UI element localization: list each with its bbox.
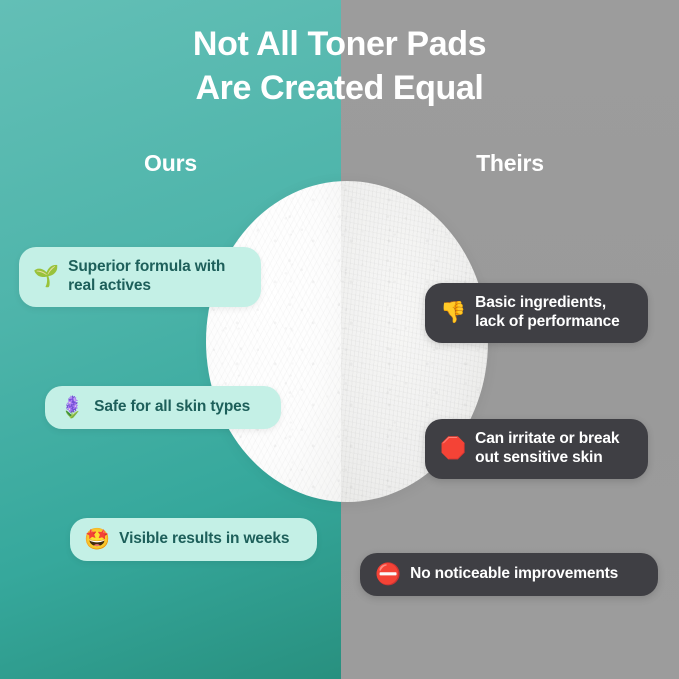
no-entry-icon: ⛔ (375, 564, 401, 585)
drawback-pill-1: 👎 Basic ingredients, lack of performance (425, 283, 648, 343)
drawback-pill-2: 🛑 Can irritate or break out sensitive sk… (425, 419, 648, 479)
page-title-line-1: Not All Toner Pads (0, 22, 679, 66)
page-title-line-2: Are Created Equal (0, 66, 679, 110)
comparison-infographic: Not All Toner Pads Are Created Equal Our… (0, 0, 679, 679)
thumbs-down-icon: 👎 (440, 302, 466, 323)
drawback-pill-2-label: Can irritate or break out sensitive skin (475, 430, 619, 468)
drawback-pill-3: ⛔ No noticeable improvements (360, 553, 658, 596)
column-header-theirs: Theirs (341, 150, 679, 177)
benefit-pill-2: 🪻 Safe for all skin types (45, 386, 281, 429)
column-header-ours: Ours (0, 150, 341, 177)
stop-sign-icon: 🛑 (440, 438, 466, 459)
benefit-pill-1-label: Superior formula with real actives (68, 258, 225, 296)
benefit-pill-2-label: Safe for all skin types (94, 398, 250, 417)
page-title: Not All Toner Pads Are Created Equal (0, 22, 679, 110)
drawback-pill-3-label: No noticeable improvements (410, 565, 618, 584)
benefit-pill-3: 🤩 Visible results in weeks (70, 518, 317, 561)
benefit-pill-1: 🌱 Superior formula with real actives (19, 247, 261, 307)
benefit-pill-3-label: Visible results in weeks (119, 530, 289, 549)
star-struck-face-icon: 🤩 (84, 529, 110, 550)
seedling-icon: 🌱 (33, 266, 59, 287)
drawback-pill-1-label: Basic ingredients, lack of performance (475, 294, 619, 332)
lotus-flower-icon: 🪻 (59, 397, 85, 418)
pad-left-half (206, 181, 341, 502)
